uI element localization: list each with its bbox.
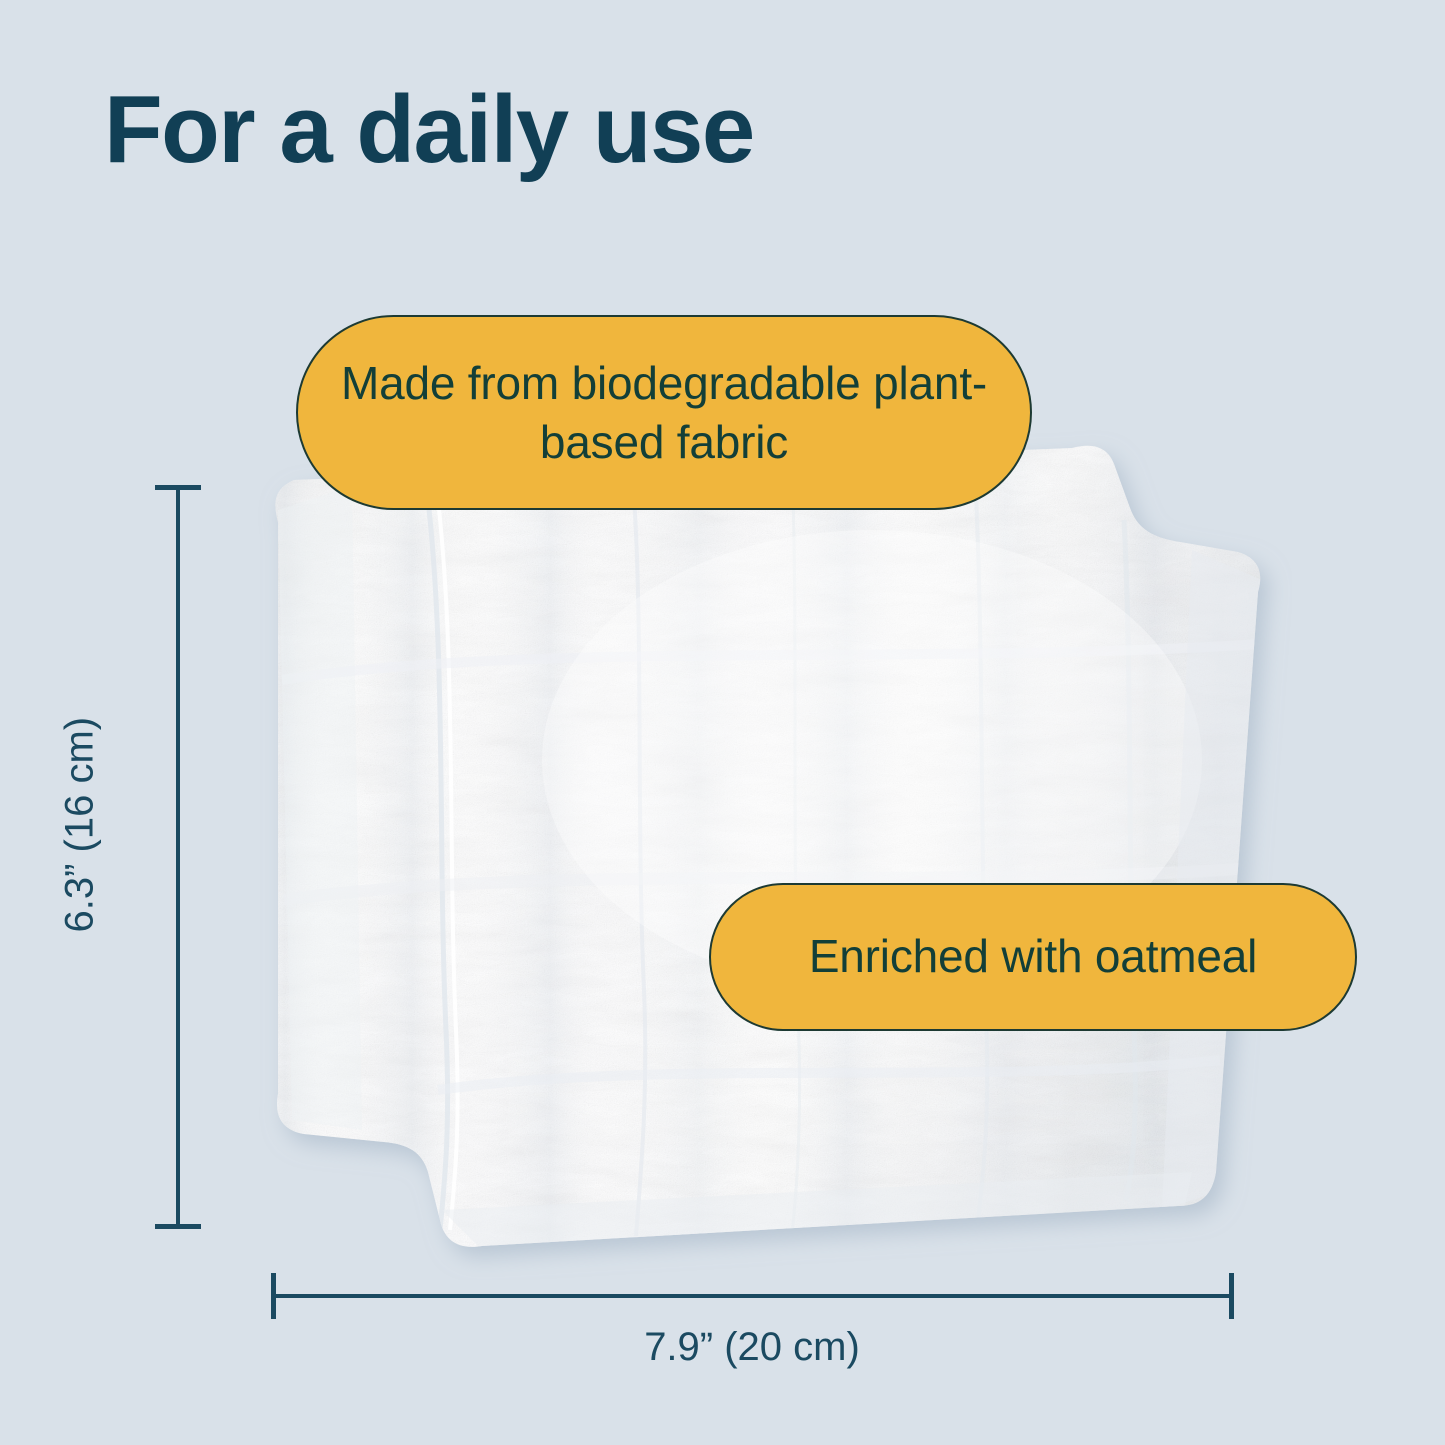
dimension-label-width: 7.9” (20 cm) [272, 1325, 1232, 1370]
product-image-wipe [232, 430, 1292, 1280]
dimension-cap-right [1229, 1273, 1234, 1319]
dimension-cap-left [271, 1273, 276, 1319]
dimension-cap-bottom [155, 1224, 201, 1229]
cloth-illustration [232, 430, 1292, 1280]
callout-badge-oatmeal: Enriched with oatmeal [709, 883, 1357, 1031]
infographic-canvas: For a daily use [0, 0, 1445, 1445]
callout-badge-fabric: Made from biodegradable plant-based fabr… [296, 315, 1032, 510]
dimension-label-height: 6.3” (16 cm) [58, 773, 103, 933]
page-title: For a daily use [104, 78, 754, 182]
dimension-line-vertical [176, 487, 180, 1227]
dimension-line-horizontal [272, 1294, 1232, 1298]
dimension-cap-top [155, 485, 201, 490]
